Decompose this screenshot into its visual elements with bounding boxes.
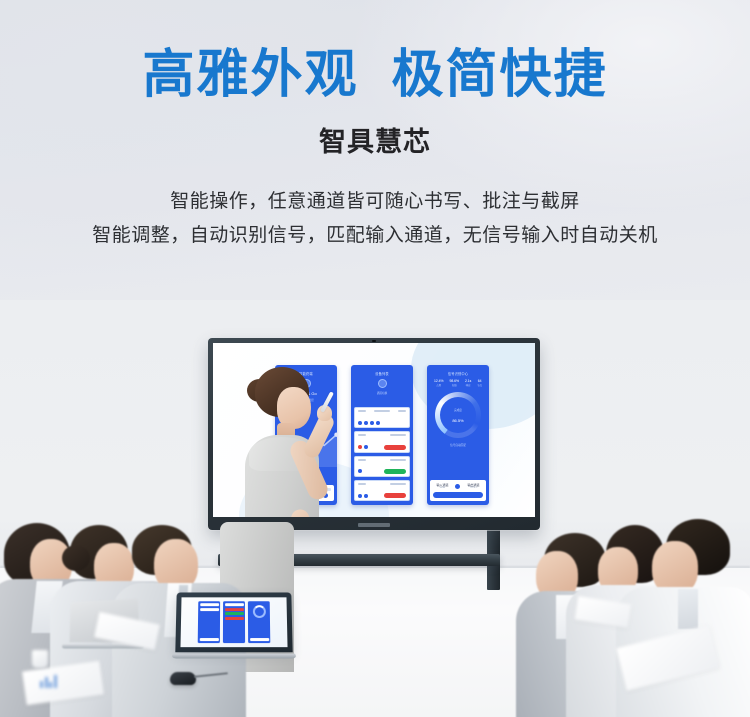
panel-3-header: 信号识别中心 xyxy=(431,371,485,376)
panel-strip xyxy=(225,603,244,606)
footer-stat: 输入通道 HDMI xyxy=(436,483,448,489)
laptop-center-screen[interactable] xyxy=(175,592,292,652)
stat-label: 响应 xyxy=(465,383,471,387)
panel-strip xyxy=(200,603,219,606)
panel-2-badge-icon xyxy=(378,379,387,388)
stat-label: 在线 xyxy=(449,383,459,387)
row-action-button-alert[interactable] xyxy=(384,493,406,498)
panel-2-rows xyxy=(354,407,410,501)
panel-3-stats: 12.4% 占用 98.6% 在线 2.1s 响应 xyxy=(431,379,485,387)
row-value xyxy=(374,410,390,412)
panel-2-title: 设备列表 xyxy=(355,371,409,376)
row-body xyxy=(358,445,406,450)
row-dots[interactable] xyxy=(358,421,380,425)
row-label xyxy=(358,410,366,412)
row-dot[interactable] xyxy=(364,494,368,498)
drinking-glass xyxy=(32,650,48,668)
chart-bar xyxy=(45,677,48,688)
row-dot[interactable] xyxy=(370,421,374,425)
feature-line-2: 智能调整，自动识别信号，匹配输入通道，无信号输入时自动关机 xyxy=(0,219,750,253)
row-dot[interactable] xyxy=(358,494,362,498)
row-header xyxy=(358,434,406,436)
product-feature-banner: 高雅外观 极简快捷 智具慧芯 智能操作，任意通道皆可随心书写、批注与截屏 智能调… xyxy=(0,0,750,717)
gauge-value: 86.5% xyxy=(452,418,463,423)
row-value xyxy=(390,483,406,485)
stat: 64 节点 xyxy=(477,379,482,387)
female-presenter xyxy=(225,361,345,517)
attendee-6 xyxy=(632,517,750,717)
feature-description: 智能操作，任意通道皆可随心书写、批注与截屏 智能调整，自动识别信号，匹配输入通道… xyxy=(0,185,750,253)
stat: 12.4% 占用 xyxy=(434,379,444,387)
stat-label: 节点 xyxy=(477,383,482,387)
gauge-footer: 信号自动匹配 xyxy=(431,443,485,447)
brand-plate xyxy=(358,523,390,527)
footer-stat: 输出通道 TYPE-C xyxy=(467,483,479,489)
footer-stat-label: HDMI xyxy=(436,487,448,489)
panel-3-footer-card[interactable]: 输入通道 HDMI 输出通道 TYPE-C xyxy=(430,480,486,501)
row-header xyxy=(358,483,406,485)
footer-stat-label: TYPE-C xyxy=(467,487,479,489)
stat: 98.6% 在线 xyxy=(449,379,459,387)
dashboard-panel-device-list[interactable]: 设备列表 通道切换 xyxy=(351,365,413,505)
row-label xyxy=(358,459,366,461)
row-dot[interactable] xyxy=(358,421,362,425)
row-meta xyxy=(398,410,406,412)
row-dots[interactable] xyxy=(358,445,368,449)
row-label xyxy=(358,483,366,485)
gauge-labels: 完成度 86.5% xyxy=(435,392,481,438)
signal-gauge-chart: 完成度 86.5% xyxy=(435,392,481,438)
footer-stats: 输入通道 HDMI 输出通道 TYPE-C xyxy=(433,483,483,489)
row-header xyxy=(358,410,406,412)
list-item[interactable] xyxy=(354,480,410,501)
interactive-flat-panel[interactable]: 智能终端 Check & Go 实时数据监控 xyxy=(208,338,540,530)
row-dot[interactable] xyxy=(358,469,362,473)
dashboard-panel-signal[interactable]: 信号识别中心 12.4% 占用 98.6% 在线 xyxy=(427,365,489,505)
camera-dot xyxy=(372,340,376,342)
list-item[interactable] xyxy=(354,407,410,428)
hair-bun xyxy=(62,545,90,571)
feature-line-1: 智能操作，任意通道皆可随心书写、批注与截屏 xyxy=(0,185,750,219)
page-subtitle: 智具慧芯 xyxy=(0,120,750,159)
panel-strip xyxy=(250,638,269,641)
panel-strip xyxy=(200,608,219,611)
row-body xyxy=(358,421,406,425)
chart-bar xyxy=(54,675,57,688)
mirrored-gauge-icon xyxy=(252,605,265,618)
stat-label: 占用 xyxy=(434,383,444,387)
mirrored-panel-3 xyxy=(248,601,270,643)
panel-2-amount: 通道切换 xyxy=(355,391,409,395)
row-dot-alert[interactable] xyxy=(358,445,362,449)
swap-icon xyxy=(455,484,460,489)
list-item[interactable] xyxy=(354,431,410,452)
chart-bar xyxy=(49,682,52,688)
row-action-button-alert[interactable] xyxy=(384,445,406,450)
page-title: 高雅外观 极简快捷 xyxy=(0,46,750,104)
list-item[interactable] xyxy=(354,456,410,477)
laptop-center-display xyxy=(180,597,287,647)
row-action-button-ok[interactable] xyxy=(384,469,406,474)
panel-strip-alert xyxy=(225,608,244,611)
panel-strip-ok xyxy=(225,612,244,615)
row-body xyxy=(358,493,406,498)
mirrored-panel-2 xyxy=(223,601,245,643)
row-value xyxy=(390,434,406,436)
panel-strip-alert xyxy=(225,617,244,620)
row-dot[interactable] xyxy=(376,421,380,425)
row-dots[interactable] xyxy=(358,469,362,473)
panel-3-title: 信号识别中心 xyxy=(431,371,485,376)
row-dots[interactable] xyxy=(358,494,368,498)
mirrored-panel-1 xyxy=(198,601,220,643)
computer-mouse[interactable] xyxy=(170,672,196,685)
row-dot[interactable] xyxy=(364,445,368,449)
gauge-label: 完成度 xyxy=(454,408,462,412)
row-value xyxy=(390,459,406,461)
chart-bar xyxy=(40,681,43,688)
panel-strip xyxy=(199,638,218,641)
laptop-center-keyboard[interactable] xyxy=(171,654,297,659)
copy-block: 高雅外观 极简快捷 智具慧芯 智能操作，任意通道皆可随心书写、批注与截屏 智能调… xyxy=(0,0,750,253)
stat: 2.1s 响应 xyxy=(465,379,471,387)
row-dot[interactable] xyxy=(364,421,368,425)
laptop-center[interactable] xyxy=(172,592,296,666)
panel-2-header: 设备列表 通道切换 xyxy=(355,371,409,395)
row-header xyxy=(358,459,406,461)
paper-chart xyxy=(40,674,57,688)
row-body xyxy=(358,469,406,474)
row-label xyxy=(358,434,366,436)
cast-screen-button[interactable] xyxy=(433,492,483,498)
conference-room-photo: 智能终端 Check & Go 实时数据监控 xyxy=(0,300,750,717)
display-screen[interactable]: 智能终端 Check & Go 实时数据监控 xyxy=(213,343,535,517)
collar xyxy=(678,589,698,629)
